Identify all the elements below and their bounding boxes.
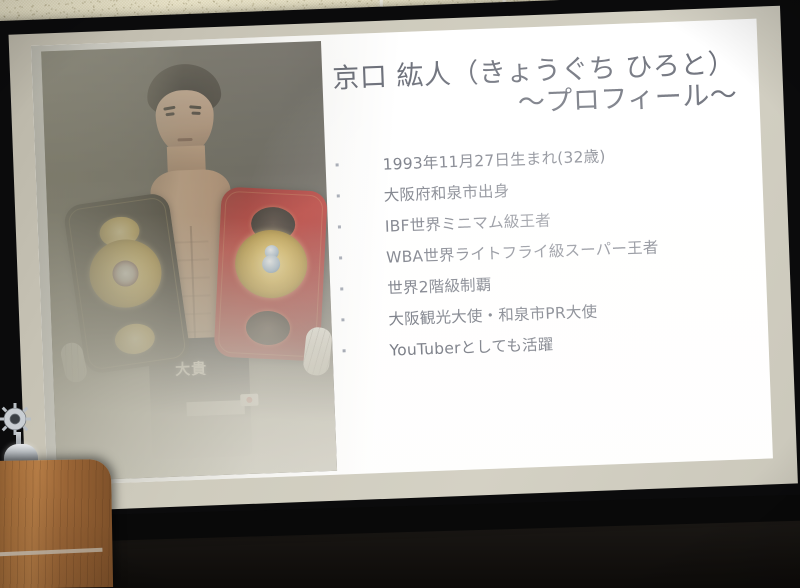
bullet-text: YouTuberとしても活躍 (389, 333, 554, 361)
bullet-text: 1993年11月27日生まれ(32歳) (382, 145, 606, 175)
projected-slide: 大貴 (31, 19, 773, 486)
bullet-text: 大阪府和泉市出身 (383, 179, 509, 206)
bullet-marker-icon (336, 164, 339, 167)
projection-screen: 大貴 (0, 0, 800, 542)
bullet-text: IBF世界ミニマム級王者 (385, 209, 552, 237)
wooden-lectern (0, 459, 113, 588)
wood-grain-texture (0, 459, 113, 588)
list-item: IBF世界ミニマム級王者 (338, 201, 757, 239)
photo-of-presentation-room: 大貴 (0, 0, 800, 588)
photo-light-washout (41, 41, 337, 481)
list-item: 大阪府和泉市出身 (336, 170, 755, 208)
bullet-marker-icon (337, 194, 340, 197)
list-item: WBA世界ライトフライ級スーパー王者 (339, 232, 758, 270)
slide-text-block: 京口 紘人（きょうぐち ひろと） ～プロフィール～ 1993年11月27日生まれ… (332, 49, 761, 379)
profile-bullet-list: 1993年11月27日生まれ(32歳) 大阪府和泉市出身 IBF世界ミニマム級王… (335, 139, 761, 363)
boxer-photo: 大貴 (41, 41, 337, 481)
list-item: 1993年11月27日生まれ(32歳) (335, 139, 754, 177)
bullet-marker-icon (343, 349, 346, 352)
bullet-marker-icon (338, 225, 341, 228)
bullet-text: WBA世界ライトフライ級スーパー王者 (386, 236, 659, 268)
rotary-gear-trophy-icon (0, 402, 32, 436)
list-item: YouTuberとしても活躍 (342, 325, 761, 363)
list-item: 大阪観光大使・和泉市PR大使 (341, 294, 760, 332)
bullet-text: 世界2階級制覇 (387, 273, 492, 299)
list-item: 世界2階級制覇 (340, 263, 759, 301)
bullet-marker-icon (341, 318, 344, 321)
bullet-text: 大阪観光大使・和泉市PR大使 (388, 300, 598, 330)
bullet-marker-icon (339, 256, 342, 259)
bullet-marker-icon (340, 287, 343, 290)
